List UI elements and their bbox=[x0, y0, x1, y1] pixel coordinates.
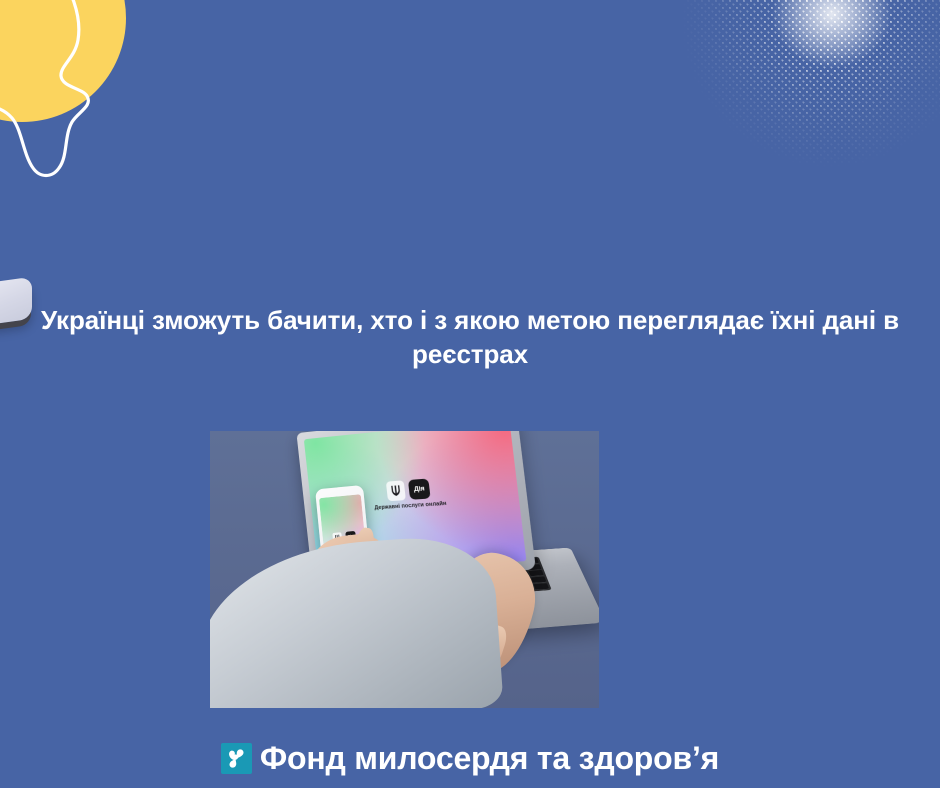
halftone-pattern-decoration bbox=[680, 0, 940, 170]
trident-glyph bbox=[391, 485, 402, 497]
footer-subtitle bbox=[0, 783, 940, 788]
poster-canvas: Українці зможуть бачити, хто і з якою ме… bbox=[0, 0, 940, 788]
yellow-circle-decoration bbox=[0, 0, 126, 122]
hero-photo: Дія Державні послуги онлайн bbox=[210, 431, 599, 708]
diia-app-logo: Дія bbox=[408, 479, 431, 500]
trident-emblem-icon bbox=[386, 481, 406, 502]
fund-name-label: Фонд милосердя та здоров’я bbox=[260, 742, 719, 774]
fund-logo-icon bbox=[221, 743, 252, 774]
footer-brand: Фонд милосердя та здоров’я bbox=[0, 742, 940, 774]
fund-hearts-glyph bbox=[226, 748, 247, 769]
page-title: Українці зможуть бачити, хто і з якою ме… bbox=[26, 303, 914, 372]
laptop-screen-caption: Державні послуги онлайн bbox=[374, 501, 447, 512]
